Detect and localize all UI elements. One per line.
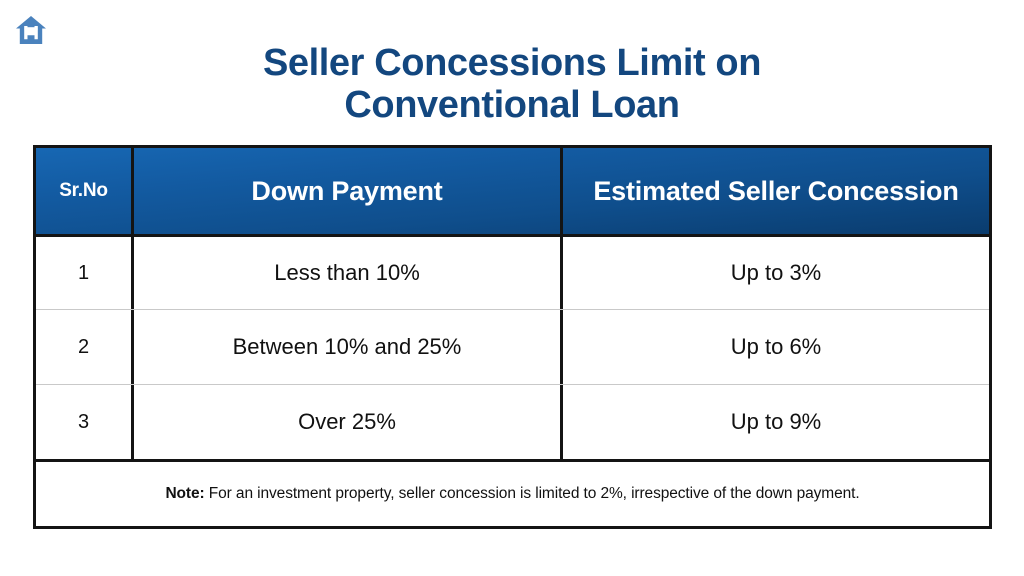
cell-sr-no: 3 [36,385,131,459]
cell-seller-concession: Up to 3% [560,237,989,309]
cell-down-payment: Less than 10% [131,237,560,309]
seller-concessions-table: Sr.No Down Payment Estimated Seller Conc… [33,145,992,529]
cell-down-payment: Between 10% and 25% [131,310,560,384]
column-header-seller-concession: Estimated Seller Concession [560,148,989,234]
cell-down-payment: Over 25% [131,385,560,459]
table-row: 3 Over 25% Up to 9% [36,384,989,459]
cell-seller-concession: Up to 9% [560,385,989,459]
page-title: Seller Concessions Limit on Conventional… [0,42,1024,126]
page-title-line-1: Seller Concessions Limit on [0,42,1024,84]
column-header-sr-no: Sr.No [36,148,131,234]
cell-sr-no: 1 [36,237,131,309]
table-row: 2 Between 10% and 25% Up to 6% [36,309,989,384]
table-note-row: Note: For an investment property, seller… [36,459,989,526]
table-header-row: Sr.No Down Payment Estimated Seller Conc… [36,148,989,234]
page-title-line-2: Conventional Loan [0,84,1024,126]
table-note: Note: For an investment property, seller… [165,485,859,503]
table-row: 1 Less than 10% Up to 3% [36,234,989,309]
cell-seller-concession: Up to 6% [560,310,989,384]
column-header-down-payment: Down Payment [131,148,560,234]
table-note-label: Note: [165,485,204,502]
cell-sr-no: 2 [36,310,131,384]
table-note-text: For an investment property, seller conce… [209,485,860,502]
